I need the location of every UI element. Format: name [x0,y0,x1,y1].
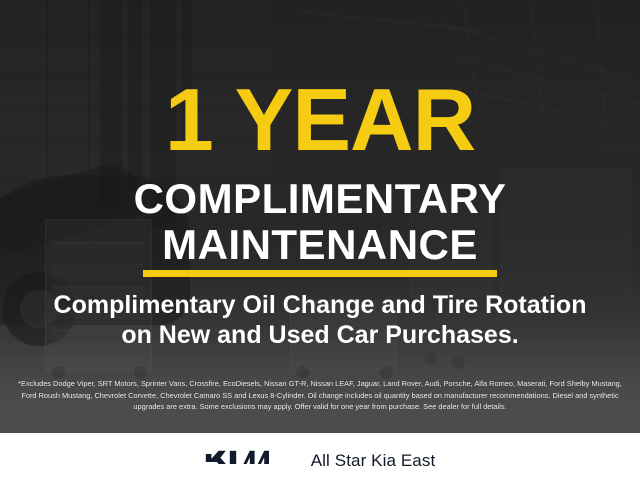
headline-secondary-line-2: MAINTENANCE [0,224,640,266]
dealer-name: All Star Kia East [311,451,436,471]
headline-primary: 1 YEAR [0,76,640,164]
footer-branding: All Star Kia East [205,446,436,475]
promo-banner: 1 YEAR COMPLIMENTARY MAINTENANCE Complim… [0,0,640,488]
yellow-divider-rule [143,270,497,277]
headline-secondary-line-1: COMPLIMENTARY [0,178,640,220]
tagline-line-2: on New and Used Car Purchases. [22,320,618,350]
disclaimer-text: *Excludes Dodge Viper, SRT Motors, Sprin… [12,378,628,413]
tagline-line-1: Complimentary Oil Change and Tire Rotati… [22,290,618,320]
footer-bar: All Star Kia East [0,433,640,488]
banner-content: 1 YEAR COMPLIMENTARY MAINTENANCE Complim… [0,0,640,488]
tagline: Complimentary Oil Change and Tire Rotati… [0,290,640,350]
kia-logo-icon [205,446,289,475]
